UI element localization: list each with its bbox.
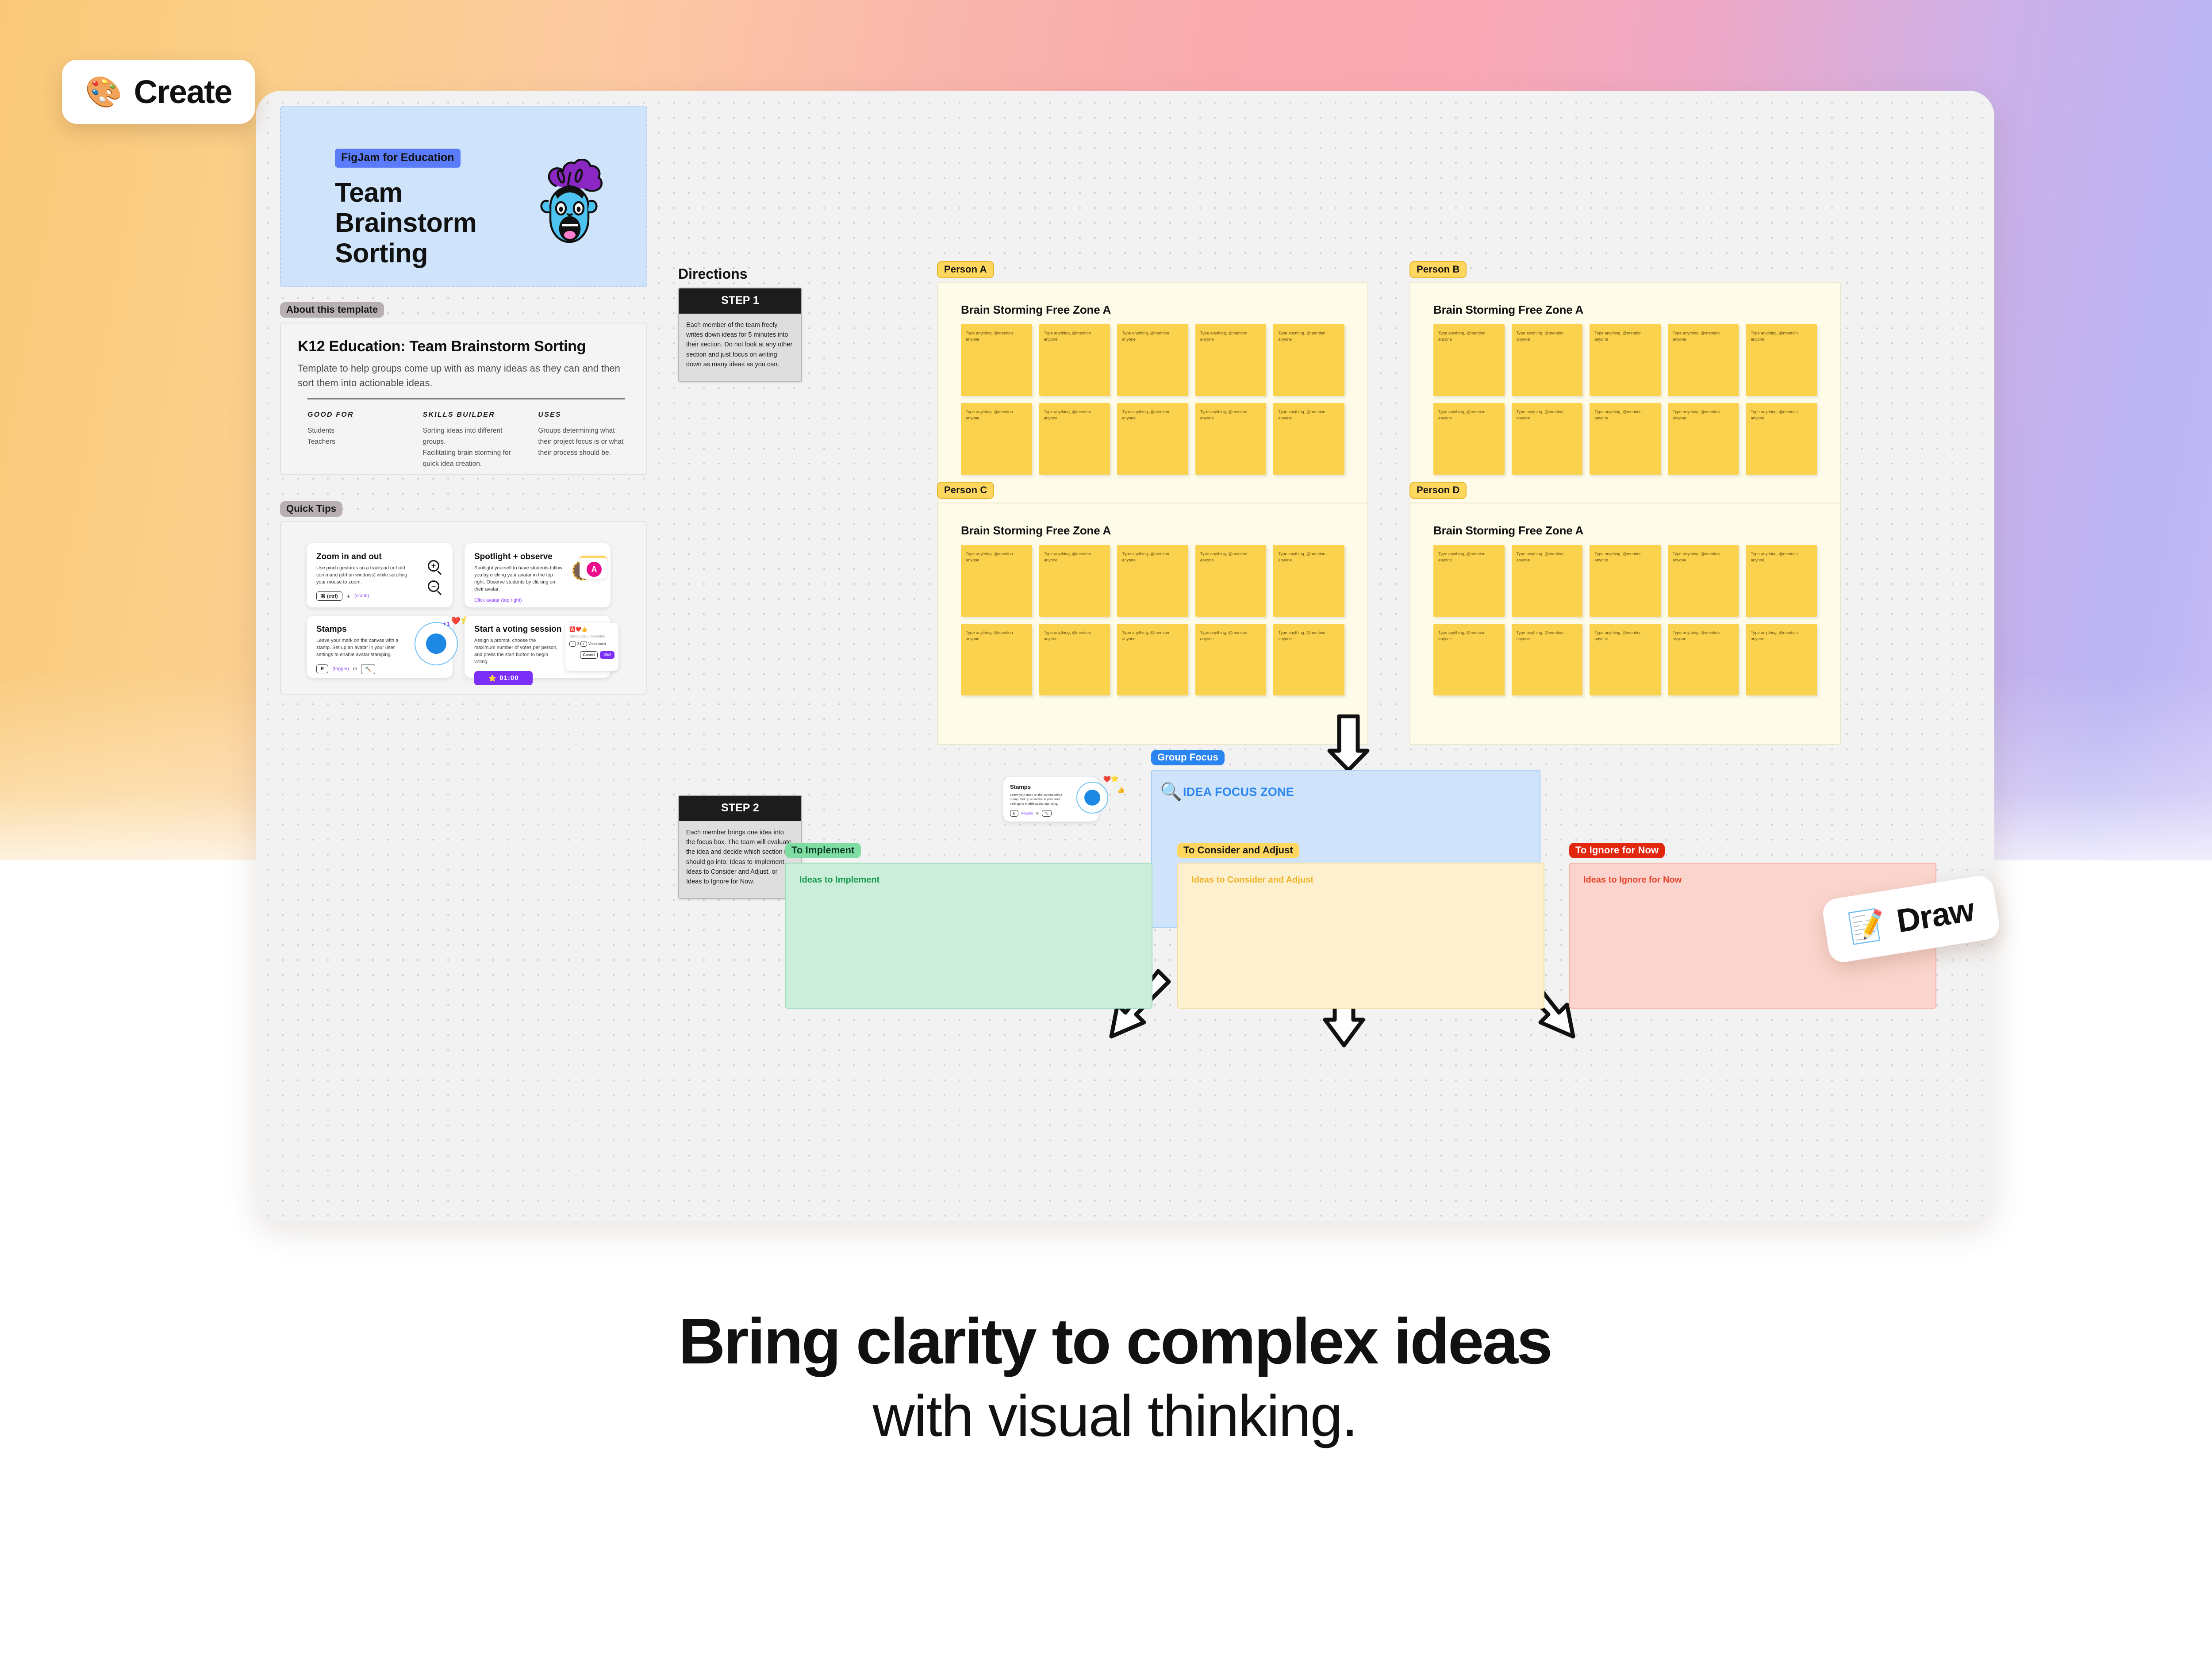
step-2-card[interactable]: STEP 2 Each member brings one idea into … [678,795,802,899]
sticky-note[interactable]: Type anything, @mention anyone [1433,545,1505,617]
sticky-note-grid: Type anything, @mention anyoneType anyth… [961,324,1344,475]
tip-card-voting[interactable]: Start a voting session Assign a prompt, … [465,616,611,678]
outcome-tag-to-implement[interactable]: To Implement [785,843,861,858]
sticky-note[interactable]: Type anything, @mention anyone [1273,545,1344,617]
sticky-note[interactable]: Type anything, @mention anyone [1590,624,1661,695]
sticky-note[interactable]: Type anything, @mention anyone [1512,545,1583,617]
star-icon: ⭐ [488,674,497,682]
stamp-icon[interactable]: 🔨 [1042,810,1052,817]
voting-timer-button[interactable]: ⭐ 01:00 [474,671,533,685]
sticky-note[interactable]: Type anything, @mention anyone [1117,545,1188,617]
about-column-skills-builder: SKILLS BUILDER Sorting ideas into differ… [423,411,515,469]
down-arrow-to-focus-icon [1324,714,1373,772]
heart-stamp-icon: ❤️ [451,617,461,626]
sticky-note[interactable]: Type anything, @mention anyone [1668,324,1739,396]
sticky-note[interactable]: Type anything, @mention anyone [1117,624,1188,695]
vote-increment-button[interactable]: + [580,641,587,647]
vote-count-value: 3 [577,642,579,646]
brainstorm-zone-c[interactable]: Brain Storming Free Zone A Type anything… [937,503,1368,745]
tip-title: Zoom in and out [316,552,443,562]
sticky-note[interactable]: Type anything, @mention anyone [1433,324,1505,396]
star-stamp-icon: ⭐ [1110,775,1119,783]
voting-panel-stamps-icon: 🅰️❤️👍 [569,626,614,632]
stamps-mini-card[interactable]: Stamps Leave your mark on the canvas wit… [1003,777,1098,822]
about-template-card[interactable]: K12 Education: Team Brainstorm Sorting T… [280,323,647,475]
sticky-note[interactable]: Type anything, @mention anyone [1590,403,1661,475]
sticky-note[interactable]: Type anything, @mention anyone [961,324,1032,396]
figjam-for-education-pill: FigJam for Education [335,149,461,168]
tip-scroll-link[interactable]: (scroll) [354,593,369,599]
voting-timer-value: 01:00 [499,674,518,682]
sticky-note[interactable]: Type anything, @mention anyone [1273,403,1344,475]
voting-panel[interactable]: 🅰️❤️👍 Stamp your 3 favorites − 3 + Votes… [565,623,618,671]
tip-kbd-e: E [316,664,328,673]
sticky-note[interactable]: Type anything, @mention anyone [1039,624,1110,695]
sticky-note[interactable]: Type anything, @mention anyone [1590,545,1661,617]
tip-click-avatar-link[interactable]: Click avatar (top right) [474,598,601,603]
sticky-note[interactable]: Type anything, @mention anyone [1512,324,1583,396]
sticky-note[interactable]: Type anything, @mention anyone [1273,624,1344,695]
tip-body: Assign a prompt, choose the maximum numb… [474,637,558,666]
about-columns: GOOD FOR Students Teachers SKILLS BUILDE… [298,411,630,469]
tip-toggle-link[interactable]: (toggle) [332,666,349,672]
page-title: Team Brainstorm Sorting [335,177,525,268]
about-column-title: GOOD FOR [307,411,399,419]
vote-count-label: Votes each [588,642,606,646]
sticky-note[interactable]: Type anything, @mention anyone [961,624,1032,695]
sticky-note[interactable]: Type anything, @mention anyone [1746,545,1817,617]
tip-body: Spotlight yourself to have students foll… [474,565,563,593]
sticky-note[interactable]: Type anything, @mention anyone [961,403,1032,475]
about-column-body: Sorting ideas into different groups. Fac… [423,425,515,469]
brainstorm-zone-b[interactable]: Brain Storming Free Zone A Type anything… [1409,282,1841,524]
step-1-card[interactable]: STEP 1 Each member of the team freely wr… [678,288,802,382]
sticky-note[interactable]: Type anything, @mention anyone [1746,403,1817,475]
zoom-out-icon[interactable]: − [428,580,439,592]
tip-plus-sign: + [347,593,350,599]
about-divider [307,398,625,399]
tip-body: Leave your mark on the canvas with a sta… [1010,793,1066,806]
zone-tag-person-b[interactable]: Person B [1409,261,1467,278]
about-column-good-for: GOOD FOR Students Teachers [307,411,399,469]
vote-decrement-button[interactable]: − [569,641,576,647]
brainstorm-zone-a[interactable]: Brain Storming Free Zone A Type anything… [937,282,1368,524]
sticky-note[interactable]: Type anything, @mention anyone [1746,324,1817,396]
step-1-body: Each member of the team freely writes do… [679,314,801,381]
step-1-header: STEP 1 [679,288,801,314]
sticky-note[interactable]: Type anything, @mention anyone [1590,324,1661,396]
about-column-title: USES [538,411,630,419]
zone-title: Brain Storming Free Zone A [961,524,1344,538]
brainstorm-zone-d[interactable]: Brain Storming Free Zone A Type anything… [1409,503,1841,745]
zone-title: Brain Storming Free Zone A [961,303,1344,317]
draw-badge-label: Draw [1894,891,1976,940]
sticky-note-grid: Type anything, @mention anyoneType anyth… [961,545,1344,695]
plus-one-stamp-icon: +1 [443,620,450,627]
sticky-note[interactable]: Type anything, @mention anyone [1746,624,1817,695]
step-2-body: Each member brings one idea into the foc… [679,821,801,898]
sticky-note[interactable]: Type anything, @mention anyone [1039,545,1110,617]
sticky-note[interactable]: Type anything, @mention anyone [1668,624,1739,695]
avatar-initial-badge: A [587,562,602,577]
zone-title: Brain Storming Free Zone A [1433,303,1817,317]
outcome-box-consider[interactable]: Ideas to Consider and Adjust [1177,863,1544,1009]
marketing-headline: Bring clarity to complex ideas with visu… [0,1305,2212,1451]
sticky-note[interactable]: Type anything, @mention anyone [1512,403,1583,475]
zoom-in-icon[interactable]: + [428,560,439,572]
tip-kbd-command: ⌘ (ctrl) [316,591,342,601]
tip-card-stamps[interactable]: Stamps Leave your mark on the canvas wit… [307,616,453,678]
group-focus-tag[interactable]: Group Focus [1151,750,1225,765]
tip-body: Leave your mark on the canvas with a sta… [316,637,400,659]
voting-start-button[interactable]: Start [600,651,614,659]
sticky-note[interactable]: Type anything, @mention anyone [961,545,1032,617]
zone-title: Brain Storming Free Zone A [1433,524,1817,538]
tip-or-label: or [353,666,357,672]
tip-card-zoom[interactable]: Zoom in and out Use pinch gestures on a … [307,543,453,607]
tip-card-spotlight[interactable]: Spotlight + observe Spotlight yourself t… [465,543,611,607]
tip-body: Use pinch gestures on a trackpad or hold… [316,565,408,586]
sticky-note[interactable]: Type anything, @mention anyone [1195,545,1267,617]
figjam-board[interactable]: FigJam for Education Team Brainstorm Sor… [256,91,1994,1221]
about-column-body: Groups determining what their project fo… [538,425,630,458]
zone-tag-person-a[interactable]: Person A [937,261,994,278]
about-column-uses: USES Groups determining what their proje… [538,411,630,469]
idea-focus-zone-label: IDEA FOCUS ZONE [1183,785,1294,799]
zone-tag-person-d[interactable]: Person D [1409,482,1467,499]
tip-toggle-link[interactable]: (toggle) [1021,811,1033,815]
hero-cover-card[interactable]: FigJam for Education Team Brainstorm Sor… [280,106,647,287]
thumbsup-stamp-icon: 👍 [1118,786,1125,794]
tip-or-label: or [1036,811,1039,815]
quick-tips-tag[interactable]: Quick Tips [280,501,342,517]
stamp-icon[interactable]: 🔨 [361,664,375,674]
outcome-title: Ideas to Consider and Adjust [1178,864,1544,897]
stamp-wheel-center [426,634,446,654]
palette-icon: 🎨 [85,77,123,107]
about-description: Template to help groups come up with as … [298,361,630,390]
about-column-title: SKILLS BUILDER [423,411,515,419]
about-column-body: Students Teachers [307,425,399,447]
about-this-template-tag[interactable]: About this template [280,302,384,318]
sticky-note[interactable]: Type anything, @mention anyone [1195,324,1267,396]
sticky-note[interactable]: Type anything, @mention anyone [1195,403,1267,475]
magnifying-glass-icon: 🔍 [1160,781,1180,802]
step-2-header: STEP 2 [679,796,801,821]
quick-tips-card[interactable]: Zoom in and out Use pinch gestures on a … [280,521,647,695]
sticky-note[interactable]: Type anything, @mention anyone [1039,403,1110,475]
sticky-note[interactable]: Type anything, @mention anyone [1668,403,1739,475]
sticky-note[interactable]: Type anything, @mention anyone [1117,324,1188,396]
headline-line-1: Bring clarity to complex ideas [0,1305,2212,1378]
zone-tag-person-c[interactable]: Person C [937,482,994,499]
sticky-note[interactable]: Type anything, @mention anyone [1512,624,1583,695]
exploding-head-illustration [531,159,608,258]
create-badge[interactable]: 🎨 Create [62,60,255,124]
sticky-note-grid: Type anything, @mention anyoneType anyth… [1433,545,1817,695]
outcome-tag-to-ignore[interactable]: To Ignore for Now [1569,843,1665,858]
voting-cancel-button[interactable]: Cancel [580,651,598,659]
tip-kbd-e: E [1010,810,1018,817]
sticky-note-grid: Type anything, @mention anyoneType anyth… [1433,324,1817,475]
sticky-note[interactable]: Type anything, @mention anyone [1195,624,1267,695]
create-badge-label: Create [134,73,232,111]
outcome-tag-to-consider[interactable]: To Consider and Adjust [1177,843,1299,858]
outcome-title: Ideas to Implement [786,864,1152,897]
directions-heading: Directions [678,266,747,282]
sticky-note[interactable]: Type anything, @mention anyone [1273,324,1344,396]
about-heading: K12 Education: Team Brainstorm Sorting [298,338,630,355]
headline-line-2: with visual thinking. [0,1381,2212,1451]
sticky-note[interactable]: Type anything, @mention anyone [1668,545,1739,617]
outcome-box-implement[interactable]: Ideas to Implement [785,863,1152,1009]
sticky-note[interactable]: Type anything, @mention anyone [1433,624,1505,695]
sticky-note[interactable]: Type anything, @mention anyone [1433,403,1505,475]
heart-stamp-icon: ❤️ [1103,776,1111,783]
sticky-note[interactable]: Type anything, @mention anyone [1039,324,1110,396]
memo-pencil-icon: 📝 [1846,908,1888,944]
sticky-note[interactable]: Type anything, @mention anyone [1117,403,1188,475]
stamp-wheel-center [1084,790,1100,806]
voting-panel-prompt: Stamp your 3 favorites [569,634,614,638]
